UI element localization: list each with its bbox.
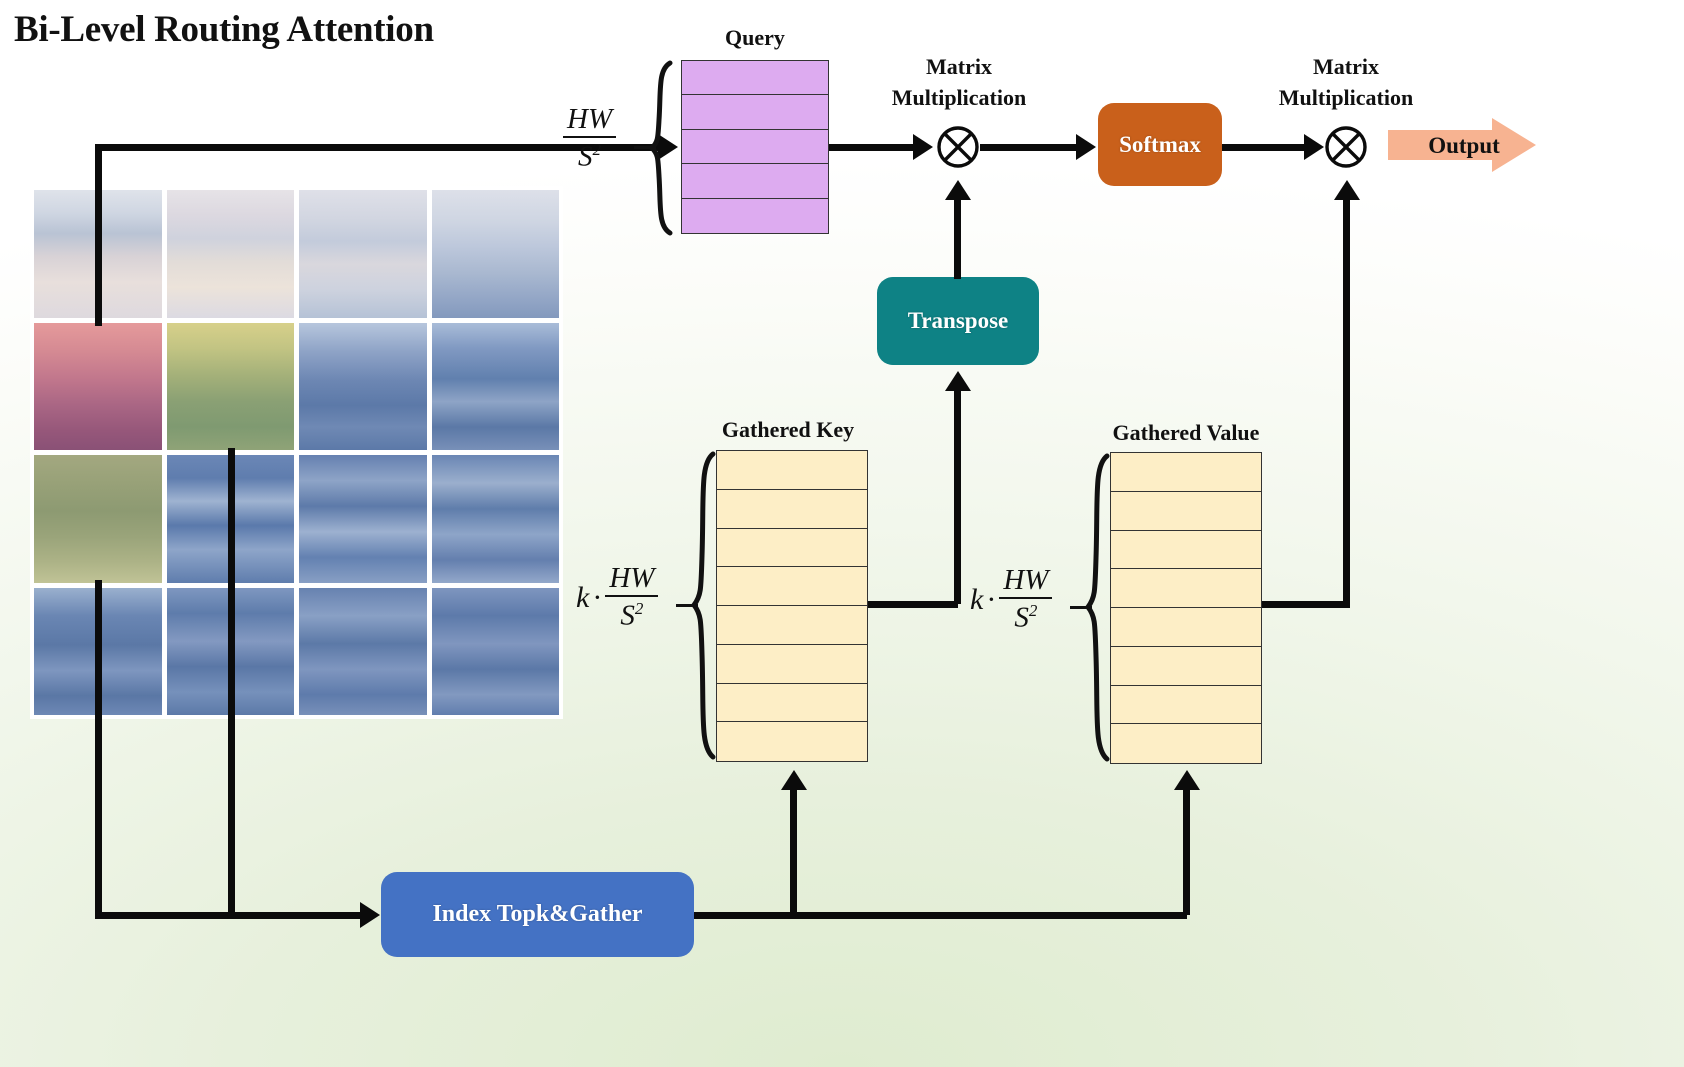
- matrix-row: [682, 95, 828, 129]
- circle-times-icon: [936, 125, 980, 169]
- input-image-grid: [30, 186, 563, 719]
- image-tile: [299, 455, 427, 583]
- key-dim-k: k: [576, 581, 589, 615]
- value-dim-denominator: S: [1014, 602, 1029, 634]
- softmax-label: Softmax: [1119, 132, 1201, 158]
- value-dim-k: k: [970, 583, 983, 617]
- arrow-into-transpose: [945, 371, 971, 391]
- key-dim-denominator: S: [620, 600, 635, 632]
- image-tile: [432, 455, 560, 583]
- matrix-row: [1111, 686, 1261, 725]
- matrix-row: [717, 722, 867, 761]
- circle-times-icon: [1324, 125, 1368, 169]
- diagram-canvas: Bi-Level Routing Attention: [0, 0, 1684, 1067]
- value-dim-dot: ·: [986, 583, 996, 617]
- connector-matmul1-to-softmax: [980, 144, 1090, 151]
- gathered-value-label: Gathered Value: [1088, 420, 1284, 446]
- arrow-into-value-bottom: [1174, 770, 1200, 790]
- matrix-row: [717, 490, 867, 529]
- transpose-box[interactable]: Transpose: [877, 277, 1039, 365]
- connector-left-down-1: [95, 580, 102, 918]
- image-tile: [432, 190, 560, 318]
- image-tile: [432, 323, 560, 451]
- matrix-row: [1111, 492, 1261, 531]
- query-dim-label: HW S2: [563, 105, 616, 172]
- connector-index-to-key: [790, 790, 797, 915]
- image-tile: [34, 323, 162, 451]
- query-dim-exponent: 2: [593, 140, 602, 159]
- value-dim-exponent: 2: [1029, 601, 1038, 620]
- matrix-row: [717, 567, 867, 606]
- brace-tick-query: [634, 146, 656, 149]
- arrow-into-matmul2: [1304, 134, 1324, 160]
- connector-left-down-2: [228, 448, 235, 918]
- query-matrix: [681, 60, 829, 234]
- matrix-row: [1111, 453, 1261, 492]
- arrow-into-matmul1-bottom: [945, 180, 971, 200]
- index-topk-gather-label: Index Topk&Gather: [432, 901, 642, 928]
- connector-value-to-matmul2: [1343, 195, 1350, 605]
- connector-grid-to-top: [95, 144, 102, 326]
- matrix-row: [1111, 608, 1261, 647]
- matmul1-label-line2: Multiplication: [874, 85, 1044, 111]
- arrow-into-index: [360, 902, 380, 928]
- value-dim-numerator: HW: [999, 566, 1052, 597]
- matrix-row: [717, 451, 867, 490]
- matrix-row: [717, 645, 867, 684]
- gathered-key-label: Gathered Key: [700, 417, 876, 443]
- connector-value-right: [1262, 601, 1350, 608]
- image-tile: [167, 190, 295, 318]
- arrow-into-matmul1: [913, 134, 933, 160]
- matrix-row: [1111, 531, 1261, 570]
- query-label: Query: [681, 25, 829, 51]
- matrix-row: [682, 164, 828, 198]
- page-title: Bi-Level Routing Attention: [14, 8, 434, 51]
- key-dim-label: k · HW S2: [576, 564, 658, 631]
- query-dim-numerator: HW: [563, 105, 616, 136]
- matrix-row: [682, 61, 828, 95]
- arrow-into-matmul2-bottom: [1334, 180, 1360, 200]
- brace-tick-value: [1070, 606, 1092, 609]
- index-topk-gather-box[interactable]: Index Topk&Gather: [381, 872, 694, 957]
- matrix-row: [682, 199, 828, 233]
- image-tile: [432, 588, 560, 716]
- brace-tick-key: [676, 604, 698, 607]
- matmul2-label-line1: Matrix: [1261, 54, 1431, 80]
- matrix-row: [717, 606, 867, 645]
- matmul1-label-line1: Matrix: [874, 54, 1044, 80]
- connector-index-output-bus: [694, 912, 1187, 919]
- matmul2-label-line2: Multiplication: [1261, 85, 1431, 111]
- image-tile: [299, 588, 427, 716]
- image-tile: [299, 190, 427, 318]
- key-dim-dot: ·: [592, 581, 602, 615]
- connector-query-to-matmul1: [829, 144, 917, 151]
- matrix-row: [1111, 647, 1261, 686]
- matrix-row: [682, 130, 828, 164]
- output-label: Output: [1412, 133, 1516, 159]
- matrix-row: [1111, 724, 1261, 763]
- key-dim-exponent: 2: [635, 599, 644, 618]
- query-dim-denominator: S: [578, 141, 593, 173]
- gathered-value-matrix: [1110, 452, 1262, 764]
- connector-transpose-to-matmul1: [954, 195, 961, 279]
- matrix-row: [1111, 569, 1261, 608]
- matrix-row: [717, 529, 867, 568]
- connector-index-to-value: [1183, 790, 1190, 915]
- softmax-box[interactable]: Softmax: [1098, 103, 1222, 186]
- gathered-key-matrix: [716, 450, 868, 762]
- connector-key-to-transpose: [954, 388, 961, 604]
- connector-key-right: [868, 601, 958, 608]
- transpose-label: Transpose: [908, 308, 1009, 334]
- image-tile: [299, 323, 427, 451]
- matrix-row: [717, 684, 867, 723]
- image-tile: [167, 323, 295, 451]
- value-dim-label: k · HW S2: [970, 566, 1052, 633]
- image-tile: [34, 455, 162, 583]
- arrow-into-softmax: [1076, 134, 1096, 160]
- key-dim-numerator: HW: [605, 564, 658, 595]
- connector-bottom-bus: [95, 912, 367, 919]
- arrow-into-key-bottom: [781, 770, 807, 790]
